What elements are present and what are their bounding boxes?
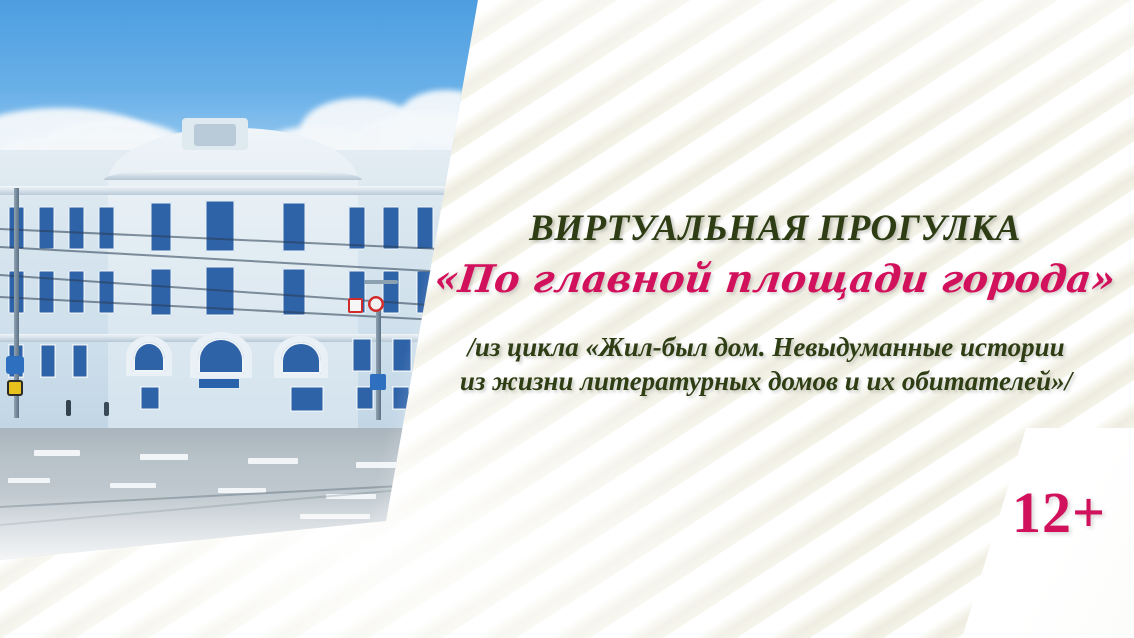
window: [382, 270, 400, 314]
no-turn-sign: [368, 296, 384, 312]
window: [150, 202, 172, 252]
page-subtitle-script: «По главной площади города»: [427, 256, 1123, 301]
page-title: ВИРТУАЛЬНАЯ ПРОГУЛКА: [430, 207, 1120, 250]
window: [98, 270, 115, 314]
road-seam: [0, 487, 428, 526]
road-marking: [140, 454, 188, 460]
pedestrian: [104, 402, 109, 416]
arched-window: [133, 342, 165, 372]
window: [72, 344, 88, 378]
series-note-line-1: /из цикла «Жил-был дом. Невыдуманные ист…: [410, 330, 1122, 364]
window: [68, 270, 85, 314]
building-upper-cornice: [104, 170, 362, 180]
building-plaque: [198, 378, 240, 389]
road-marking: [300, 514, 370, 519]
window: [352, 338, 372, 372]
arched-entrance: [198, 338, 244, 374]
age-rating-badge: 12+: [1012, 479, 1106, 546]
window: [282, 202, 306, 252]
window: [40, 344, 56, 378]
building-attic: [182, 118, 248, 150]
window: [98, 206, 115, 250]
window: [38, 206, 55, 250]
road-marking: [248, 458, 298, 464]
series-note: /из цикла «Жил-был дом. Невыдуманные ист…: [410, 330, 1122, 398]
window: [205, 200, 235, 252]
building-cornice: [0, 186, 490, 195]
road-marking: [110, 483, 156, 488]
window: [392, 338, 412, 372]
window: [140, 386, 160, 410]
window: [150, 268, 172, 316]
presentation-slide: ВИРТУАЛЬНАЯ ПРОГУЛКА «По главной площади…: [0, 0, 1134, 638]
pedestrian: [66, 400, 71, 416]
street-lamp-arm: [364, 280, 398, 284]
window: [282, 268, 306, 316]
street-sign: [6, 356, 24, 374]
traffic-sign: [7, 380, 23, 396]
pedestrian-crossing-sign: [370, 374, 386, 390]
street-pole: [376, 300, 381, 420]
warning-sign: [348, 298, 363, 313]
road-marking: [8, 478, 50, 483]
door: [290, 386, 324, 412]
road-marking: [34, 450, 80, 456]
window: [382, 206, 400, 250]
arched-entrance: [281, 342, 321, 374]
series-note-line-2: из жизни литературных домов и их обитате…: [410, 364, 1122, 398]
window: [68, 206, 85, 250]
